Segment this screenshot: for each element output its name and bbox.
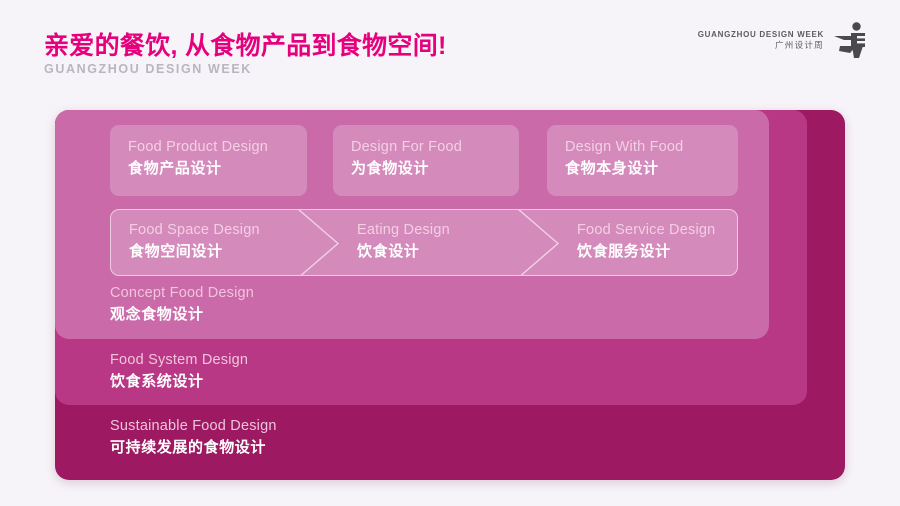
- card-food-product-design[interactable]: Food Product Design 食物产品设计: [110, 125, 307, 196]
- nested-diagram: Food Product Design 食物产品设计 Design For Fo…: [55, 110, 845, 480]
- label-sustainable-food-design: Sustainable Food Design 可持续发展的食物设计: [110, 417, 277, 458]
- logo-text-block: GUANGZHOU DESIGN WEEK 广州设计周: [698, 30, 824, 51]
- layer-english-label: Sustainable Food Design: [110, 417, 277, 437]
- flow-chinese-label: 饮食服务设计: [577, 241, 738, 263]
- running-figure-icon: [832, 20, 870, 60]
- layer-chinese-label: 观念食物设计: [110, 304, 254, 326]
- flow-step-eating-design[interactable]: Eating Design 饮食设计: [339, 210, 539, 276]
- card-english-label: Design With Food: [565, 138, 738, 158]
- layer-chinese-label: 可持续发展的食物设计: [110, 437, 277, 459]
- card-chinese-label: 食物产品设计: [128, 158, 307, 180]
- card-chinese-label: 食物本身设计: [565, 158, 738, 180]
- flow-bar: Food Space Design 食物空间设计 Eating Design 饮…: [110, 209, 738, 276]
- page-title: 亲爱的餐饮, 从食物产品到食物空间!: [44, 26, 447, 62]
- flow-english-label: Food Space Design: [129, 221, 331, 241]
- card-english-label: Design For Food: [351, 138, 519, 158]
- card-chinese-label: 为食物设计: [351, 158, 519, 180]
- page-subtitle: GUANGZHOU DESIGN WEEK: [44, 62, 252, 76]
- logo-chinese-name: 广州设计周: [698, 40, 824, 51]
- card-design-with-food[interactable]: Design With Food 食物本身设计: [547, 125, 738, 196]
- flow-english-label: Eating Design: [357, 221, 539, 241]
- page-header: 亲爱的餐饮, 从食物产品到食物空间! GUANGZHOU DESIGN WEEK…: [0, 0, 900, 100]
- label-concept-food-design: Concept Food Design 观念食物设计: [110, 284, 254, 325]
- layer-english-label: Concept Food Design: [110, 284, 254, 304]
- flow-step-food-space-design[interactable]: Food Space Design 食物空间设计: [111, 210, 331, 276]
- logo-english-name: GUANGZHOU DESIGN WEEK: [698, 30, 824, 40]
- layer-english-label: Food System Design: [110, 351, 248, 371]
- card-design-for-food[interactable]: Design For Food 为食物设计: [333, 125, 519, 196]
- flow-chinese-label: 食物空间设计: [129, 241, 331, 263]
- flow-step-food-service-design[interactable]: Food Service Design 饮食服务设计: [559, 210, 738, 276]
- label-food-system-design: Food System Design 饮食系统设计: [110, 351, 248, 392]
- flow-chinese-label: 饮食设计: [357, 241, 539, 263]
- brand-logo: GUANGZHOU DESIGN WEEK 广州设计周: [698, 18, 870, 62]
- card-row: Food Product Design 食物产品设计 Design For Fo…: [110, 125, 738, 196]
- flow-english-label: Food Service Design: [577, 221, 738, 241]
- layer-chinese-label: 饮食系统设计: [110, 371, 248, 393]
- card-english-label: Food Product Design: [128, 138, 307, 158]
